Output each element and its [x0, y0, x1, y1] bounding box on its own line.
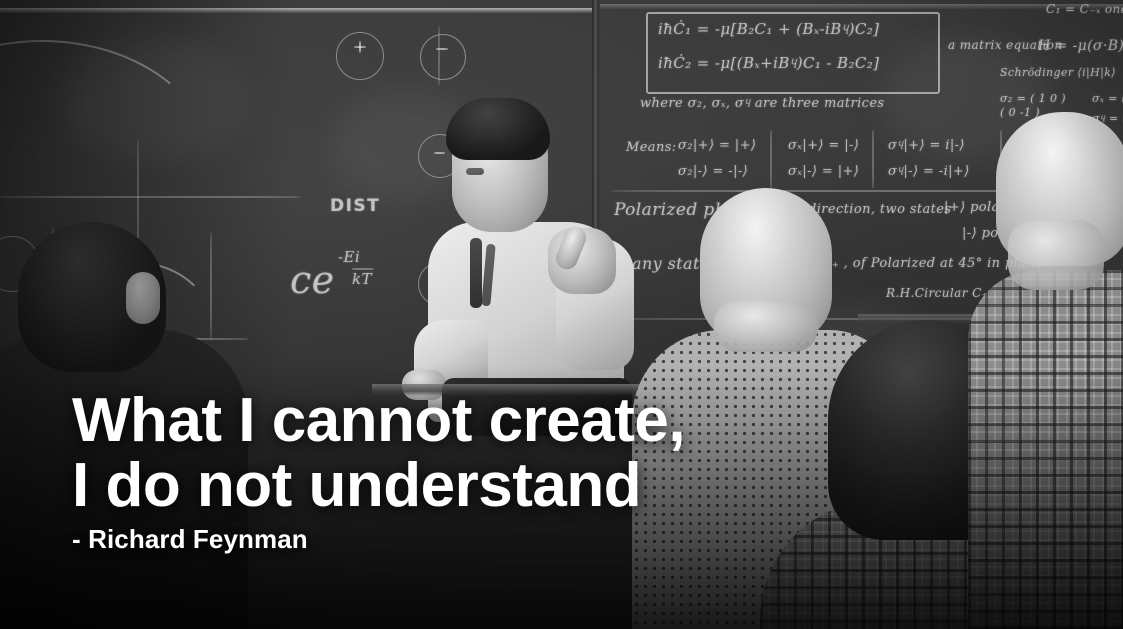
quote-image: DIST ce -Ei kT iħĊ₁ = -μ[B₂C₁ + (Bₓ-iB୳)… — [0, 0, 1123, 629]
quote-line-2: I do not understand — [72, 453, 685, 518]
quote-line-1: What I cannot create, — [72, 388, 685, 453]
quote-attribution: - Richard Feynman — [72, 524, 308, 555]
quote-text: What I cannot create, I do not understan… — [72, 388, 685, 518]
